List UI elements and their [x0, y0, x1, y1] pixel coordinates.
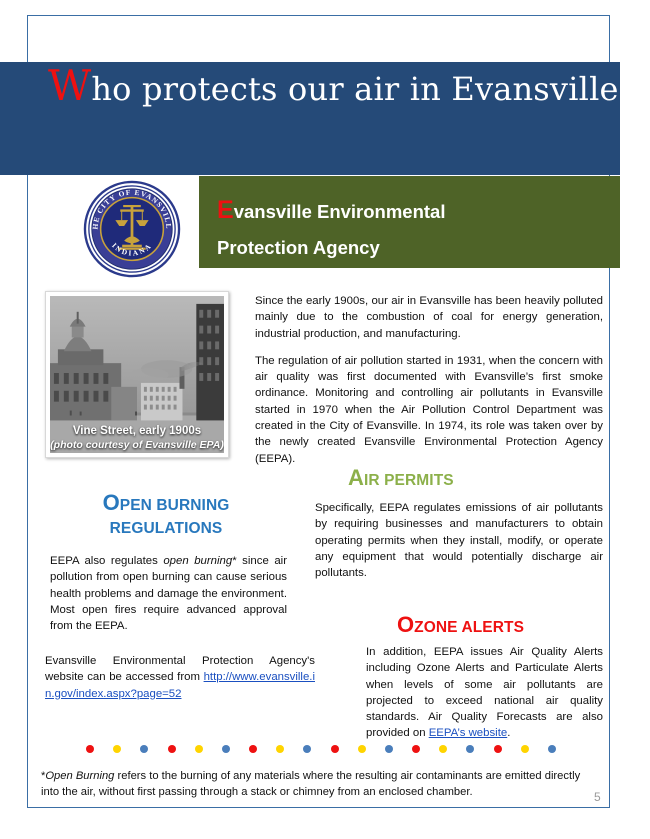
photo-image: Vine Street, early 1900s (photo courtesy…: [50, 296, 224, 453]
title-dropcap: W: [48, 61, 91, 110]
divider-dot: [466, 745, 474, 753]
divider-dot: [358, 745, 366, 753]
divider-dot: [521, 745, 529, 753]
divider-dot: [113, 745, 121, 753]
open-burning-dropcap: O: [103, 490, 120, 515]
divider-dot: [303, 745, 311, 753]
eepa-website-link[interactable]: EEPA’s website: [429, 727, 508, 739]
ozone-alerts-dropcap: O: [397, 612, 414, 637]
divider-dot: [140, 745, 148, 753]
divider-dot: [439, 745, 447, 753]
air-permits-body-text: Specifically, EEPA regulates emissions o…: [315, 500, 603, 581]
ozone-body-pre: In addition, EEPA issues Air Quality Ale…: [366, 646, 603, 739]
photo-caption-line1: Vine Street, early 1900s: [50, 425, 224, 439]
agency-dropcap: E: [217, 196, 234, 224]
open-burning-heading-rest: PEN BURNING: [120, 497, 230, 514]
intro-paragraph-2: The regulation of air pollution started …: [255, 353, 603, 467]
agency-title-bar: Evansville Environmental Protection Agen…: [199, 176, 620, 268]
heading-ozone-alerts: OZONE ALERTS: [318, 612, 603, 638]
divider-dot: [548, 745, 556, 753]
divider-dot: [412, 745, 420, 753]
air-permits-dropcap: A: [348, 465, 364, 490]
agency-name-line1: vansville Environmental: [234, 201, 446, 222]
photo-caption-line2: (photo courtesy of Evansville EPA): [50, 439, 224, 451]
divider-dot: [222, 745, 230, 753]
seal-icon: THE CITY OF EVANSVILLE INDIANA: [83, 180, 181, 278]
title-rest: ho protects our air in Evansville?: [91, 70, 636, 108]
agency-name-line2: Protection Agency: [217, 237, 380, 258]
divider-dot: [195, 745, 203, 753]
divider-dot: [494, 745, 502, 753]
divider-dot: [331, 745, 339, 753]
divider-dot: [249, 745, 257, 753]
ozone-alerts-body-text: In addition, EEPA issues Air Quality Ale…: [366, 644, 603, 742]
air-permits-heading-rest: IR PERMITS: [364, 472, 454, 489]
open-burning-heading-line2: REGULATIONS: [110, 520, 223, 537]
website-access-text: Evansville Environmental Protection Agen…: [45, 653, 315, 702]
page-number: 5: [594, 790, 601, 804]
open-burning-italic-term: open burning: [163, 555, 232, 567]
ozone-alerts-heading-rest: ZONE ALERTS: [414, 619, 524, 636]
open-burning-body-text: EEPA also regulates open burning* since …: [50, 553, 287, 634]
divider-dot: [385, 745, 393, 753]
open-burning-body-pre: EEPA also regulates: [50, 555, 163, 567]
intro-paragraph-1: Since the early 1900s, our air in Evansv…: [255, 293, 603, 342]
footnote-rest: refers to the burning of any materials w…: [41, 770, 580, 798]
divider-dot: [86, 745, 94, 753]
heading-air-permits: AIR PERMITS: [318, 465, 603, 491]
photo-caption: Vine Street, early 1900s (photo courtesy…: [50, 425, 224, 451]
footnote-italic-term: Open Burning: [45, 770, 114, 782]
historic-photo: Vine Street, early 1900s (photo courtesy…: [45, 291, 229, 458]
title-banner: Who protects our air in Evansville?: [0, 62, 620, 175]
divider-dot: [276, 745, 284, 753]
footnote-open-burning-definition: *Open Burning refers to the burning of a…: [41, 768, 586, 800]
divider-dot: [168, 745, 176, 753]
city-seal-logo: THE CITY OF EVANSVILLE INDIANA: [83, 180, 181, 278]
ozone-body-post: .: [507, 727, 510, 739]
agency-name: Evansville Environmental Protection Agen…: [217, 189, 609, 264]
page-title: Who protects our air in Evansville?: [48, 70, 636, 108]
intro-text-column: Since the early 1900s, our air in Evansv…: [255, 293, 603, 478]
dot-divider: [86, 745, 556, 753]
heading-open-burning-regulations: OPEN BURNING REGULATIONS: [45, 487, 287, 540]
